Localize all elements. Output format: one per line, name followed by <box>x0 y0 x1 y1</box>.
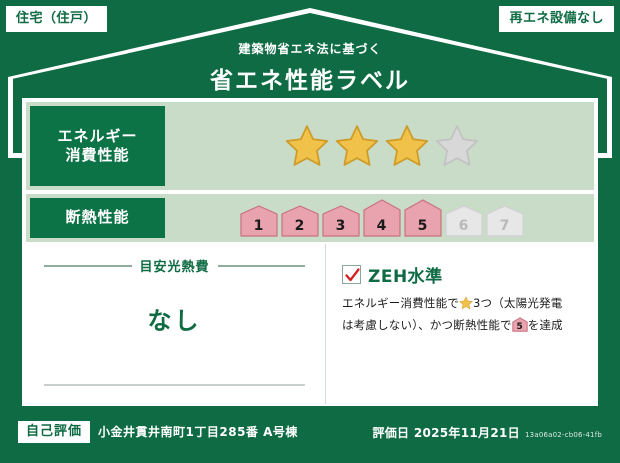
insulation-grade-number: 4 <box>363 218 401 234</box>
insulation-grade-number: 5 <box>404 218 442 234</box>
energy-performance-label: エネルギー 消費性能 <box>30 106 165 186</box>
inline-house-badge: 5 <box>512 317 528 332</box>
insulation-grade-7: 7 <box>486 205 524 237</box>
utility-cost-value: なし <box>38 275 311 384</box>
insulation-label-text: 断熱性能 <box>65 208 129 228</box>
content-panel: エネルギー 消費性能 断熱性能 1234567 目安光熱費 なし <box>22 98 598 406</box>
insulation-grade-scale: 1234567 <box>240 199 524 237</box>
insulation-grade-6: 6 <box>445 205 483 237</box>
utility-cost-section: 目安光熱費 なし <box>24 244 326 404</box>
insulation-performance-value: 1234567 <box>169 194 594 242</box>
zeh-desc-stars: 3つ（太陽光発電 <box>473 296 562 310</box>
insulation-grade-number: 3 <box>322 218 360 234</box>
footer-meta: 評価日 2025年11月21日 13a06a02-cb06-41fb <box>372 422 602 441</box>
evaluation-id: 13a06a02-cb06-41fb <box>525 431 602 439</box>
zeh-desc-part3: を達成 <box>528 318 563 332</box>
evaluation-date: 評価日 2025年11月21日 <box>372 426 519 440</box>
header-subtitle: 建築物省エネ法に基づく <box>0 40 620 57</box>
property-address: 小金井貫井南町1丁目285番 A号棟 <box>98 423 298 440</box>
inline-star-icon <box>459 296 473 316</box>
insulation-grade-5: 5 <box>404 199 442 237</box>
insulation-performance-row: 断熱性能 1234567 <box>24 192 596 244</box>
insulation-grade-1: 1 <box>240 205 278 237</box>
star-filled-icon <box>334 123 380 169</box>
label-header: 建築物省エネ法に基づく 省エネ性能ラベル <box>0 40 620 95</box>
label-footer: 自己評価 小金井貫井南町1丁目285番 A号棟 評価日 2025年11月21日 … <box>0 406 620 463</box>
energy-performance-row: エネルギー 消費性能 <box>24 100 596 192</box>
utility-cost-divider <box>44 384 305 386</box>
star-filled-icon <box>384 123 430 169</box>
utility-cost-title: 目安光熱費 <box>38 256 311 275</box>
star-filled-icon <box>284 123 330 169</box>
insulation-grade-number: 2 <box>281 218 319 234</box>
insulation-grade-2: 2 <box>281 205 319 237</box>
star-rating <box>284 123 480 169</box>
self-evaluation-badge: 自己評価 <box>18 421 90 443</box>
insulation-grade-3: 3 <box>322 205 360 237</box>
star-icon <box>459 296 473 310</box>
insulation-grade-number: 1 <box>240 218 278 234</box>
page-title: 省エネ性能ラベル <box>0 61 620 95</box>
zeh-desc-part1: エネルギー消費性能で <box>342 296 459 310</box>
energy-label-line1: エネルギー <box>57 127 137 147</box>
star-empty-icon <box>434 123 480 169</box>
insulation-grade-4: 4 <box>363 199 401 237</box>
zeh-header: ZEH水準 <box>342 262 584 287</box>
inline-house-number: 5 <box>512 323 528 332</box>
insulation-grade-number: 7 <box>486 218 524 234</box>
badge-renewable-energy: 再エネ設備なし <box>499 6 614 32</box>
check-icon <box>344 267 361 284</box>
zeh-description: エネルギー消費性能で 3つ（太陽光発電 は考慮しない）、かつ断熱性能で 5 を達… <box>342 294 584 335</box>
zeh-section: ZEH水準 エネルギー消費性能で 3つ（太陽光発電 は考慮しない）、かつ断熱性能… <box>326 244 596 404</box>
insulation-performance-label: 断熱性能 <box>30 198 165 238</box>
zeh-title: ZEH水準 <box>368 262 443 287</box>
energy-performance-label: 住宅（住戸） 再エネ設備なし 建築物省エネ法に基づく 省エネ性能ラベル エネルギ… <box>0 0 620 463</box>
lower-section: 目安光熱費 なし ZEH水準 エネルギー消費性能で <box>24 244 596 404</box>
zeh-checkbox <box>342 265 361 284</box>
energy-label-line2: 消費性能 <box>65 146 129 166</box>
badge-building-type: 住宅（住戸） <box>6 6 107 32</box>
insulation-grade-number: 6 <box>445 218 483 234</box>
zeh-desc-part2: は考慮しない）、かつ断熱性能で <box>342 318 512 332</box>
energy-performance-value <box>169 102 594 190</box>
